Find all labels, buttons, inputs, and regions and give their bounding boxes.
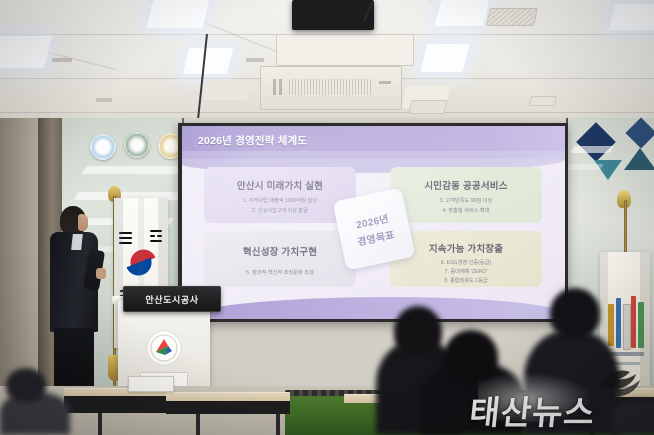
podium-sign-label: 안산도시공사 (145, 293, 198, 306)
quadrant-heading: 안산시 미래가치 실현 (204, 178, 356, 192)
projector-shroud (276, 34, 414, 66)
audience-table-body (166, 401, 290, 414)
speaker-face (78, 214, 88, 231)
slide-title: 2026년 경영전략 체계도 (198, 133, 307, 148)
quadrant-heading: 시민감동 공공서비스 (390, 178, 542, 192)
slide-footer-wave (182, 297, 565, 319)
quadrant-item: 6. ESG경영 인증(등급) (390, 259, 542, 267)
quadrant-item: 7. 중대재해 'ZERO' (390, 268, 542, 276)
conference-room: 2026년 경영전략 체계도 안산시 미래가치 실현 1. 지역사업 매출액 1… (0, 0, 654, 435)
slide-quadrant-bottom-right: 지속가능 가치창출 6. ESG경영 인증(등급) 7. 중대재해 'ZERO'… (390, 231, 542, 287)
ceiling-light-panel (609, 4, 654, 30)
speaker-shirt (71, 234, 83, 250)
quadrant-item: 4. 맞춤형 서비스 확대 (390, 207, 542, 215)
decor-triangle (624, 148, 654, 170)
quadrant-item: 8. 종합청렴도 1등급 (390, 277, 542, 285)
slide-quadrant-top-right: 시민감동 공공서비스 3. 고객만족도 90점 이상 4. 맞춤형 서비스 확대 (390, 167, 542, 223)
ceiling-light-panel (203, 80, 252, 100)
wall-emblem (90, 134, 116, 160)
slide-quadrant-bottom-left: 혁신성장 가치구현 5. 창의적·혁신적 조직문화 조성 (204, 231, 356, 287)
news-watermark: 태산뉴스 (468, 386, 651, 432)
corporation-logo-icon (146, 330, 182, 366)
wall-emblem (124, 132, 150, 158)
ceiling-light-panel (183, 48, 233, 74)
quadrant-item: 3. 고객만족도 90점 이상 (390, 197, 542, 205)
decor-triangle (594, 160, 622, 180)
projection-screen: 2026년 경영전략 체계도 안산시 미래가치 실현 1. 지역사업 매출액 1… (182, 126, 565, 319)
ceiling (0, 0, 654, 122)
quadrant-heading: 혁신성장 가치구현 (204, 244, 356, 258)
table-nameplate (128, 376, 174, 392)
audience-head (550, 288, 600, 338)
air-conditioner-unit (260, 66, 402, 110)
ceiling-light-panel (421, 44, 470, 72)
ceiling-vent (486, 8, 538, 26)
ceiling-light-panel (147, 0, 210, 28)
ceiling-vent (409, 100, 448, 114)
ceiling-light-panel (435, 0, 489, 26)
decor-diamond (625, 117, 654, 148)
audience-table-body (64, 396, 170, 413)
slide-center-goal: 2026년 경영목표 (332, 187, 415, 270)
speaker-hand (96, 268, 106, 279)
podium-sign: 안산도시공사 (123, 286, 221, 312)
audience-head (6, 368, 46, 402)
ceiling-vent (529, 96, 557, 106)
speaker-legs (54, 328, 94, 390)
slide-quadrant-top-left: 안산시 미래가치 실현 1. 지역사업 매출액 1000억원 달성 2. 신규사… (204, 167, 356, 223)
audience-head (394, 306, 442, 356)
photo-stage: 2026년 경영전략 체계도 안산시 미래가치 실현 1. 지역사업 매출액 1… (0, 0, 654, 435)
quadrant-item: 5. 창의적·혁신적 조직문화 조성 (204, 269, 356, 277)
ceiling-projector (292, 0, 374, 30)
decor-diamond (576, 122, 616, 162)
ceiling-light-panel (0, 36, 52, 68)
audience-head (444, 330, 498, 384)
